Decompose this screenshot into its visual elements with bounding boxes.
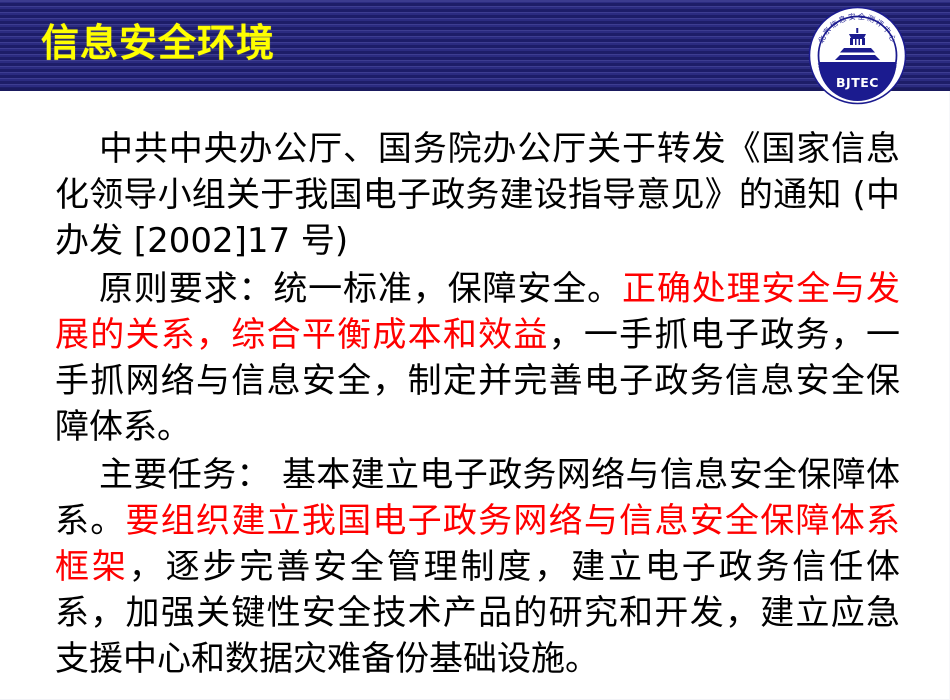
text-run-black: 原则要求：统一标准，保障安全。 bbox=[99, 269, 622, 309]
paragraph-main-tasks: 主要任务： 基本建立电子政务网络与信息安全保障体系。要组织建立我国电子政务网络与… bbox=[55, 452, 900, 682]
paragraph-principle-requirements: 原则要求：统一标准，保障安全。正确处理安全与发展的关系，综合平衡成本和效益，一手… bbox=[55, 266, 900, 450]
presentation-slide: 信息安全环境 北京信息安全测评中心 BEIJING INFORMATION SE… bbox=[0, 0, 950, 700]
text-run-black: 中共中央办公厅、国务院办公厅关于转发《国家信息化领导小组关于我国电子政务建设指导… bbox=[55, 129, 900, 261]
slide-body: 中共中央办公厅、国务院办公厅关于转发《国家信息化领导小组关于我国电子政务建设指导… bbox=[55, 126, 900, 682]
bjtec-logo: 北京信息安全测评中心 BEIJING INFORMATION SECURITY … bbox=[805, 3, 910, 108]
header-top-edge bbox=[0, 0, 950, 2]
svg-text:BJTEC: BJTEC bbox=[836, 75, 879, 90]
paragraph-notice-title: 中共中央办公厅、国务院办公厅关于转发《国家信息化领导小组关于我国电子政务建设指导… bbox=[55, 126, 900, 264]
page-title: 信息安全环境 bbox=[41, 17, 275, 69]
text-run-black: ，逐步完善安全管理制度，建立电子政务信任体系，加强关键性安全技术产品的研究和开发… bbox=[55, 547, 900, 679]
